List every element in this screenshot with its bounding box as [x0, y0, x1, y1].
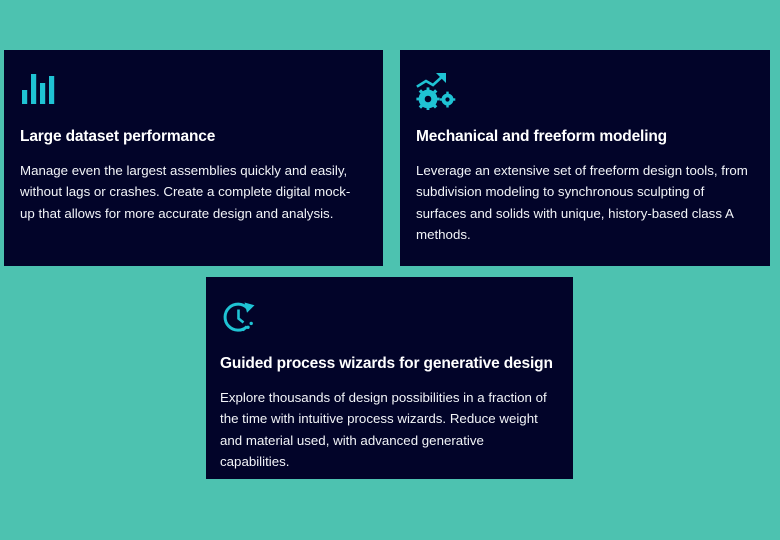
card-title: Mechanical and freeform modeling: [416, 128, 750, 146]
card-body-text: Manage even the largest assemblies quick…: [20, 160, 363, 225]
card-body-text: Explore thousands of design possibilitie…: [220, 387, 553, 473]
clock-process-icon: [220, 299, 553, 341]
feature-card-guided-process-wizards[interactable]: Guided process wizards for generative de…: [206, 277, 573, 479]
feature-card-mechanical-and-freeform-modeling[interactable]: Mechanical and freeform modeling Leverag…: [400, 50, 770, 266]
card-content: Guided process wizards for generative de…: [206, 277, 573, 479]
bar-chart-icon: [20, 72, 363, 114]
feature-card-large-dataset-performance[interactable]: Large dataset performance Manage even th…: [4, 50, 383, 266]
trend-gears-icon: [416, 72, 750, 114]
card-title: Large dataset performance: [20, 128, 363, 146]
card-body-text: Leverage an extensive set of freeform de…: [416, 160, 750, 246]
card-content: Large dataset performance Manage even th…: [4, 50, 383, 242]
feature-cards-section: Large dataset performance Manage even th…: [0, 0, 780, 540]
card-title: Guided process wizards for generative de…: [220, 355, 553, 373]
card-content: Mechanical and freeform modeling Leverag…: [400, 50, 770, 264]
